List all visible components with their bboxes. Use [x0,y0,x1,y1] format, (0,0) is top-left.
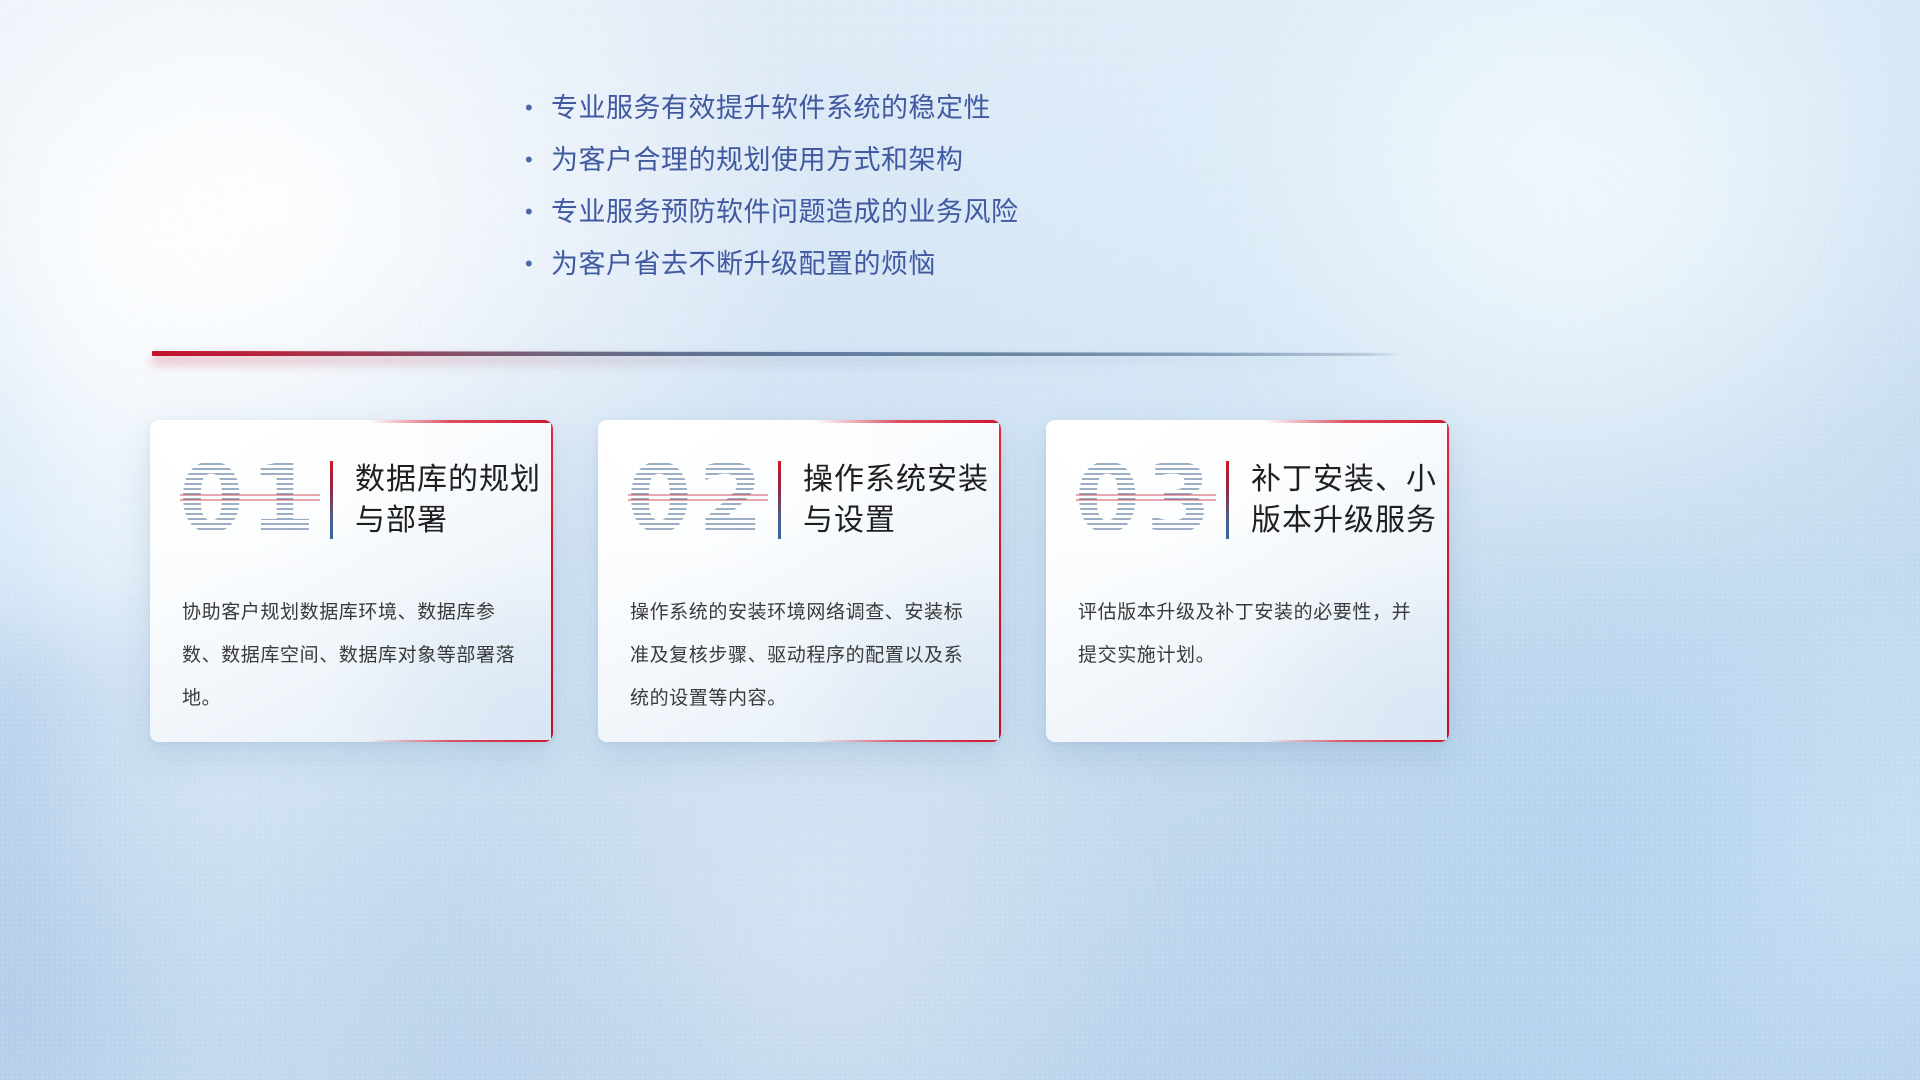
slide-canvas: • 专业服务有效提升软件系统的稳定性 • 为客户合理的规划使用方式和架构 • 专… [0,0,1920,1080]
card-header: 02 操作系统安装 与设置 [598,420,1001,580]
background-glow-bottom-center [360,700,1260,1080]
service-card-03[interactable]: 03 补丁安装、小 版本升级服务 评估版本升级及补丁安装的必要性，并提交实施计划… [1046,420,1449,742]
divider-glow [152,355,1402,365]
card-description: 评估版本升级及补丁安装的必要性，并提交实施计划。 [1078,592,1419,678]
bullet-marker-icon: • [525,253,551,275]
card-accent-bottom [816,740,1001,743]
card-header: 03 补丁安装、小 版本升级服务 [1046,420,1449,580]
card-header: 01 数据库的规划 与部署 [150,420,553,580]
background-glow-top-left [0,0,430,480]
bullet-item: • 为客户合理的规划使用方式和架构 [525,138,1285,190]
card-description: 操作系统的安装环境网络调查、安装标准及复核步骤、驱动程序的配置以及系统的设置等内… [630,592,971,720]
card-description: 协助客户规划数据库环境、数据库参数、数据库空间、数据库对象等部署落地。 [182,592,523,720]
card-number: 03 [1070,453,1222,547]
bullet-text: 为客户合理的规划使用方式和架构 [551,138,964,177]
card-number: 02 [622,453,774,547]
bullet-text: 专业服务预防软件问题造成的业务风险 [551,190,1019,229]
card-accent-bottom [1264,740,1449,743]
section-divider [152,345,1402,367]
bullet-marker-icon: • [525,97,551,119]
bullet-item: • 专业服务预防软件问题造成的业务风险 [525,190,1285,242]
bullet-marker-icon: • [525,149,551,171]
bullet-marker-icon: • [525,201,551,223]
service-card-02[interactable]: 02 操作系统安装 与设置 操作系统的安装环境网络调查、安装标准及复核步骤、驱动… [598,420,1001,742]
card-number: 01 [174,453,326,547]
service-card-01[interactable]: 01 数据库的规划 与部署 协助客户规划数据库环境、数据库参数、数据库空间、数据… [150,420,553,742]
card-title-rule [330,461,333,539]
card-title: 操作系统安装 与设置 [803,459,989,542]
bullet-item: • 专业服务有效提升软件系统的稳定性 [525,86,1285,138]
service-cards: 01 数据库的规划 与部署 协助客户规划数据库环境、数据库参数、数据库空间、数据… [150,420,1450,742]
benefits-bullet-list: • 专业服务有效提升软件系统的稳定性 • 为客户合理的规划使用方式和架构 • 专… [525,86,1285,294]
card-title-rule [1226,461,1229,539]
card-title-rule [778,461,781,539]
bullet-text: 专业服务有效提升软件系统的稳定性 [551,86,991,125]
divider-line [152,351,1402,356]
card-title: 补丁安装、小 版本升级服务 [1251,459,1437,542]
card-title: 数据库的规划 与部署 [355,459,541,542]
bullet-text: 为客户省去不断升级配置的烦恼 [551,242,936,281]
card-accent-bottom [368,740,553,743]
bullet-item: • 为客户省去不断升级配置的烦恼 [525,242,1285,294]
